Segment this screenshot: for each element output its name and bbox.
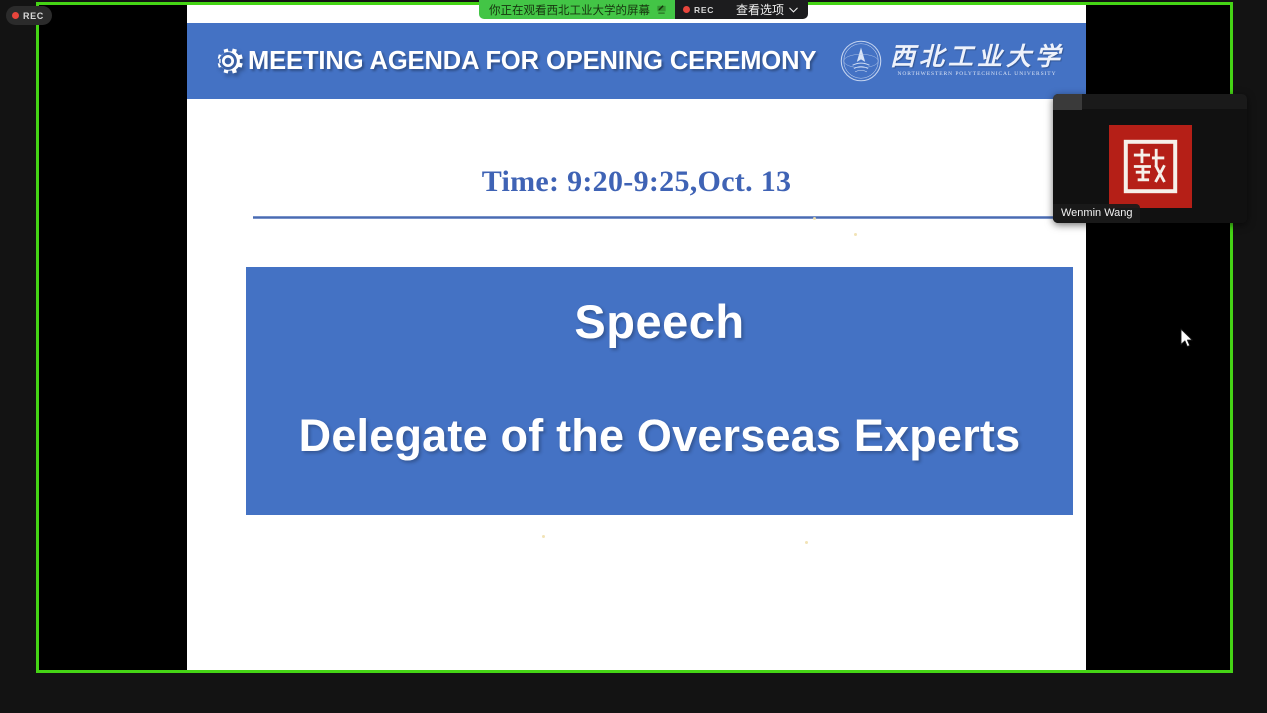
slide-time-text: Time: 9:20-9:25,Oct. 13 [187,165,1086,199]
agenda-item-title: Speech [246,294,1073,349]
record-dot-icon [683,6,690,13]
slide-divider-rule [253,216,1086,219]
screen-share-icon [656,4,667,15]
slide-artifact-speck [854,233,857,236]
slide-artifact-speck [542,535,545,538]
university-logo: 西北工业大学 NORTHWESTERN POLYTECHNICAL UNIVER… [840,40,1064,82]
participant-name-label: Wenmin Wang [1053,204,1140,223]
participant-video-panel[interactable]: Wenmin Wang [1053,94,1247,223]
university-name-en: NORTHWESTERN POLYTECHNICAL UNIVERSITY [897,71,1056,77]
university-wordmark: 西北工业大学 NORTHWESTERN POLYTECHNICAL UNIVER… [890,45,1064,78]
recording-badge[interactable]: REC [6,6,52,25]
screen-share-toolbar: 你正在观看西北工业大学的屏幕 REC 查看选项 [479,0,808,19]
slide-title: MEETING AGENDA FOR OPENING CEREMONY [248,47,816,76]
slide-artifact-speck [805,541,808,544]
agenda-item-block: Speech Delegate of the Overseas Experts [246,267,1073,515]
slide-header-bar: MEETING AGENDA FOR OPENING CEREMONY 西北工业… [187,23,1086,99]
university-name-cn: 西北工业大学 [890,45,1064,71]
screen-share-recording-indicator: REC [675,0,724,19]
drag-handle-icon[interactable] [1053,94,1082,110]
avatar [1122,138,1179,195]
view-options-label: 查看选项 [736,1,784,18]
university-emblem-icon [840,40,882,82]
seal-stamp-avatar [1109,125,1192,208]
chevron-down-icon [789,7,798,13]
slide-artifact-speck [813,217,816,220]
agenda-item-subtitle: Delegate of the Overseas Experts [246,410,1073,462]
record-dot-icon [12,12,19,19]
screen-share-status: 你正在观看西北工业大学的屏幕 [479,0,675,19]
recording-badge-label: REC [23,11,44,21]
gear-icon [209,42,247,80]
screen-share-rec-label: REC [694,5,714,15]
presentation-slide: MEETING AGENDA FOR OPENING CEREMONY 西北工业… [187,5,1086,670]
screen-share-status-label: 你正在观看西北工业大学的屏幕 [489,2,650,18]
screen-root: MEETING AGENDA FOR OPENING CEREMONY 西北工业… [0,0,1267,713]
view-options-button[interactable]: 查看选项 [724,0,808,19]
